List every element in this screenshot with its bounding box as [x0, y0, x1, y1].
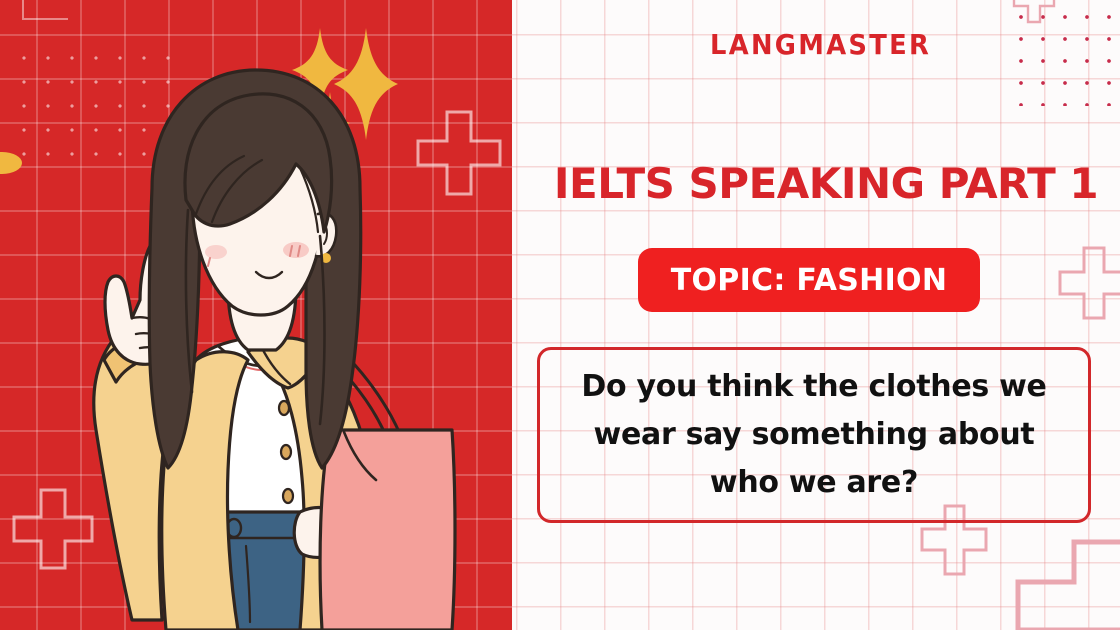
question-box: Do you think the clothes we wear say som… — [537, 347, 1091, 523]
question-line-1: Do you think the clothes we — [581, 369, 1046, 404]
content-panel: LANGMASTER IELTS SPEAKING PART 1 TOPIC: … — [512, 0, 1120, 630]
question-text: Do you think the clothes we wear say som… — [581, 363, 1046, 507]
page-title: IELTS SPEAKING PART 1 — [546, 160, 1106, 208]
topic-badge-label: TOPIC: FASHION — [671, 263, 948, 298]
plus-icon-pink-small — [1012, 0, 1056, 24]
corner-step-decoration — [1002, 538, 1120, 630]
question-line-2: wear say something about — [594, 417, 1035, 452]
topic-badge: TOPIC: FASHION — [638, 248, 980, 312]
plus-icon-pink-right — [1058, 246, 1120, 320]
character-illustration — [0, 0, 512, 630]
slide-canvas: LANGMASTER IELTS SPEAKING PART 1 TOPIC: … — [0, 0, 1120, 630]
question-line-3: who we are? — [710, 465, 918, 500]
langmaster-logo: LANGMASTER — [710, 28, 931, 61]
illustration-panel — [0, 0, 512, 630]
